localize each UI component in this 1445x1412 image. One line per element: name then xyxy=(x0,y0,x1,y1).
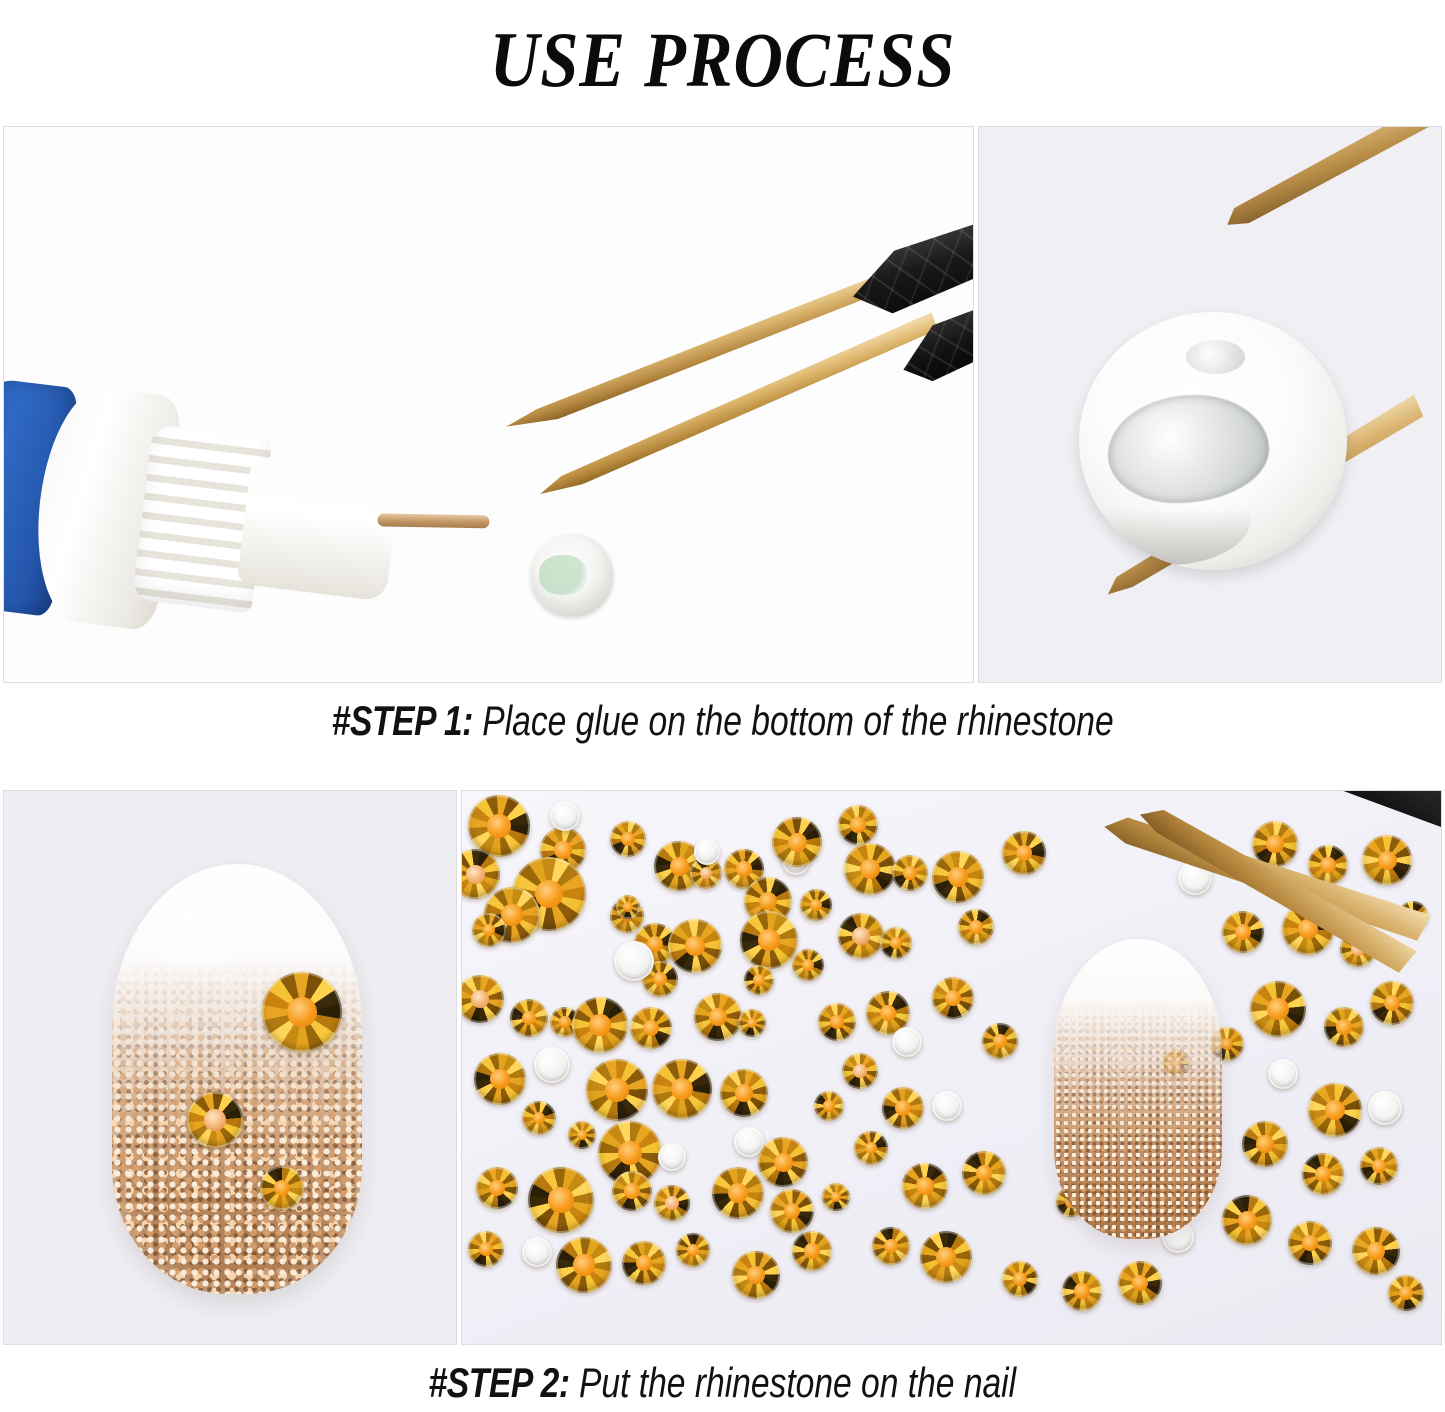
rhinestone xyxy=(472,913,506,947)
decorated-nail-photo xyxy=(3,790,457,1345)
rhinestone xyxy=(1222,1195,1272,1245)
gem-edge xyxy=(872,1227,910,1265)
rhinestone xyxy=(882,1087,924,1129)
gem-edge xyxy=(468,1231,504,1267)
gem-edge xyxy=(1352,1227,1400,1275)
gem-edge xyxy=(654,1185,690,1221)
gem-edge xyxy=(1118,1261,1162,1305)
rhinestone xyxy=(652,1059,712,1119)
gem-edge xyxy=(720,1069,768,1117)
rhinestone xyxy=(668,919,722,973)
rhinestone xyxy=(902,1163,948,1209)
rhinestone xyxy=(654,1185,690,1221)
rhinestone xyxy=(932,1091,962,1121)
rhinestone xyxy=(770,1189,814,1233)
rhinestone xyxy=(510,999,548,1037)
rhinestone xyxy=(838,913,884,959)
rhinestone xyxy=(792,1231,832,1271)
rhinestone xyxy=(1250,981,1306,1037)
rhinestone xyxy=(758,1137,808,1187)
rhinestone-being-glued xyxy=(531,534,613,616)
gem-edge xyxy=(932,977,974,1019)
gem-edge xyxy=(1362,835,1412,885)
rhinestone xyxy=(612,1171,652,1211)
rhinestone xyxy=(622,1241,666,1285)
rhinestone xyxy=(468,1231,504,1267)
rhinestone xyxy=(712,1167,764,1219)
gem-edge xyxy=(892,855,928,891)
gem-edge xyxy=(476,1167,518,1209)
gem-edge xyxy=(1250,981,1306,1037)
gem-edge xyxy=(712,1167,764,1219)
gem-edge xyxy=(572,997,628,1053)
gem-edge xyxy=(1324,1007,1364,1047)
gem-edge xyxy=(932,1091,962,1121)
artificial-nail xyxy=(112,864,362,1294)
rhinestone xyxy=(1308,1083,1362,1137)
rhinestone-rim xyxy=(1084,472,1250,565)
gem-edge xyxy=(800,889,832,921)
rhinestone-flat-back xyxy=(1079,312,1347,570)
gem-edge xyxy=(668,919,722,973)
gem-edge xyxy=(556,1237,612,1293)
rhinestone xyxy=(1222,911,1264,953)
nail-gem-large xyxy=(262,972,342,1052)
rhinestone xyxy=(658,1143,686,1171)
rhinestone xyxy=(1268,1059,1298,1089)
gem-edge xyxy=(528,1167,594,1233)
gem-edge xyxy=(187,1092,243,1148)
rhinestone xyxy=(800,889,832,921)
gem-edge xyxy=(892,1027,922,1057)
gem-edge xyxy=(1002,1261,1038,1297)
gem-edge xyxy=(822,1183,850,1211)
rhinestone xyxy=(1360,1147,1398,1185)
rhinestone xyxy=(958,909,994,945)
rhinestone xyxy=(818,1003,856,1041)
gem-edge xyxy=(630,1007,672,1049)
header: USE PROCESS xyxy=(0,0,1445,126)
gem-edge xyxy=(882,1087,924,1129)
rhinestone xyxy=(522,1101,556,1135)
gem-edge xyxy=(474,1053,526,1105)
gem-edge xyxy=(932,851,984,903)
rhinestone xyxy=(844,843,896,895)
gem-edge xyxy=(616,895,640,919)
rhinestone xyxy=(1324,1007,1364,1047)
rhinestone xyxy=(586,1059,648,1121)
rhinestone xyxy=(892,1027,922,1057)
gem-edge xyxy=(958,909,994,945)
rhinestone xyxy=(568,1121,596,1149)
nail-gem-medium xyxy=(187,1092,243,1148)
gem-edge xyxy=(472,913,506,947)
rhinestone xyxy=(932,977,974,1019)
step-1-text: Place glue on the bottom of the rhinesto… xyxy=(473,697,1114,744)
rhinestone xyxy=(1002,831,1046,875)
gem-edge xyxy=(854,1131,888,1165)
rhinestone xyxy=(528,1167,594,1233)
nail-in-scatter xyxy=(1054,939,1222,1239)
gem-edge xyxy=(880,927,912,959)
rhinestone xyxy=(1370,981,1414,1025)
rhinestone xyxy=(1388,1275,1424,1311)
gem-edge xyxy=(1388,1275,1424,1311)
rhinestone xyxy=(610,821,646,857)
rhinestone xyxy=(1302,1153,1344,1195)
gem-edge xyxy=(622,1241,666,1285)
gem-edge xyxy=(534,1047,570,1083)
gem-edge xyxy=(612,1171,652,1211)
glue-bubble xyxy=(1186,340,1245,374)
gem-edge xyxy=(1370,981,1414,1025)
rhinestone xyxy=(814,1091,844,1121)
step-1-caption: #STEP 1: Place glue on the bottom of the… xyxy=(0,697,1445,745)
rhinestone xyxy=(694,993,742,1041)
rhinestone xyxy=(614,941,654,981)
rhinestone xyxy=(872,1227,910,1265)
rhinestone xyxy=(720,1069,768,1117)
gem-edge xyxy=(262,972,342,1052)
rhinestone xyxy=(792,949,824,981)
gem-edge xyxy=(260,1166,304,1210)
tweezer-upper-tip xyxy=(1207,126,1442,230)
glue-bottle xyxy=(3,364,477,676)
gem-edge xyxy=(694,993,742,1041)
rhinestone xyxy=(740,911,798,969)
gem-edge xyxy=(522,1237,552,1267)
gem-edge xyxy=(772,817,822,867)
step-2-label: #STEP 2: xyxy=(429,1359,570,1406)
step-2-text: Put the rhinestone on the nail xyxy=(570,1359,1016,1406)
page-title: USE PROCESS xyxy=(490,21,956,99)
gem-edge xyxy=(550,801,580,831)
rhinestone xyxy=(1362,835,1412,885)
gem-edge xyxy=(694,839,720,865)
gem-edge xyxy=(844,843,896,895)
rhinestone xyxy=(744,965,774,995)
gem-edge xyxy=(740,911,798,969)
gem-edge xyxy=(842,1053,878,1089)
gem-edge xyxy=(792,1231,832,1271)
tweezer-lower-arm xyxy=(542,395,974,575)
gem-edge xyxy=(962,1151,1006,1195)
gem-edge xyxy=(1002,831,1046,875)
nail-gem-small xyxy=(260,1166,304,1210)
gem-edge xyxy=(1302,1153,1344,1195)
rhinestone xyxy=(854,1131,888,1165)
gem-edge xyxy=(676,1233,710,1267)
rhinestone xyxy=(962,1151,1006,1195)
step-1-photo-row xyxy=(3,126,1442,683)
rhinestone xyxy=(1288,1221,1332,1265)
step-2-caption: #STEP 2: Put the rhinestone on the nail xyxy=(0,1359,1445,1407)
gem-edge xyxy=(1242,1121,1288,1167)
rhinestone xyxy=(630,1007,672,1049)
gem-edge xyxy=(792,949,824,981)
gem-edge xyxy=(982,1023,1018,1059)
glue-bottle-and-tweezers-photo xyxy=(3,126,974,683)
gem-edge xyxy=(468,795,530,857)
rhinestone xyxy=(1002,1261,1038,1297)
rhinestone-scatter-photo xyxy=(461,790,1442,1345)
rhinestone xyxy=(772,817,822,867)
gem-edge xyxy=(1062,1271,1102,1311)
rhinestone xyxy=(892,855,928,891)
gem-edge xyxy=(758,1137,808,1187)
gem-edge xyxy=(658,1143,686,1171)
rhinestone xyxy=(738,1009,766,1037)
rhinestone xyxy=(556,1237,612,1293)
gem-edge xyxy=(510,999,548,1037)
rhinestone xyxy=(1062,1271,1102,1311)
rhinestone xyxy=(1368,1091,1402,1125)
gem-edge xyxy=(568,1121,596,1149)
rhinestone xyxy=(920,1231,972,1283)
rhinestone xyxy=(880,927,912,959)
gem-edge xyxy=(838,805,878,845)
rhinestone xyxy=(550,801,580,831)
tweezer-rubber-grip xyxy=(842,163,974,323)
gem-edge xyxy=(818,1003,856,1041)
step-1-label: #STEP 1: xyxy=(332,697,473,744)
gem-edge xyxy=(902,1163,948,1209)
rhinestone xyxy=(476,1167,518,1209)
gem-edge xyxy=(1268,1059,1298,1089)
gem-edge xyxy=(1308,1083,1362,1137)
rhinestone xyxy=(534,1047,570,1083)
gem-edge xyxy=(1360,1147,1398,1185)
gem-edge xyxy=(652,1059,712,1119)
step-2-photo-row xyxy=(3,790,1442,1345)
rhinestone xyxy=(838,805,878,845)
rhinestone xyxy=(616,895,640,919)
gem-edge xyxy=(814,1091,844,1121)
gem-edge xyxy=(838,913,884,959)
nail-glitter-gradient xyxy=(1054,999,1222,1239)
rhinestone xyxy=(676,1233,710,1267)
rhinestone xyxy=(842,1053,878,1089)
gem-edge xyxy=(770,1189,814,1233)
rhinestone xyxy=(1352,1227,1400,1275)
rhinestone xyxy=(982,1023,1018,1059)
gem-edge xyxy=(1288,1221,1332,1265)
glue-bottle-tip xyxy=(377,508,497,536)
gem-edge xyxy=(920,1231,972,1283)
gem-edge xyxy=(744,965,774,995)
rhinestone xyxy=(1118,1261,1162,1305)
rhinestone-glue-closeup-photo xyxy=(978,126,1442,683)
gem-edge xyxy=(732,1251,780,1299)
gem-edge xyxy=(1222,1195,1272,1245)
rhinestone xyxy=(572,997,628,1053)
gem-edge xyxy=(614,941,654,981)
gem-edge xyxy=(522,1101,556,1135)
gem-edge xyxy=(1368,1091,1402,1125)
rhinestone xyxy=(1242,1121,1288,1167)
gem-edge xyxy=(1222,911,1264,953)
rhinestone xyxy=(474,1053,526,1105)
rhinestone xyxy=(468,795,530,857)
gem-edge xyxy=(738,1009,766,1037)
rhinestone xyxy=(932,851,984,903)
gem-edge xyxy=(586,1059,648,1121)
nail-highlight xyxy=(147,877,257,980)
rhinestone xyxy=(694,839,720,865)
rhinestone xyxy=(732,1251,780,1299)
gem-edge xyxy=(610,821,646,857)
rhinestone xyxy=(822,1183,850,1211)
rhinestone xyxy=(522,1237,552,1267)
